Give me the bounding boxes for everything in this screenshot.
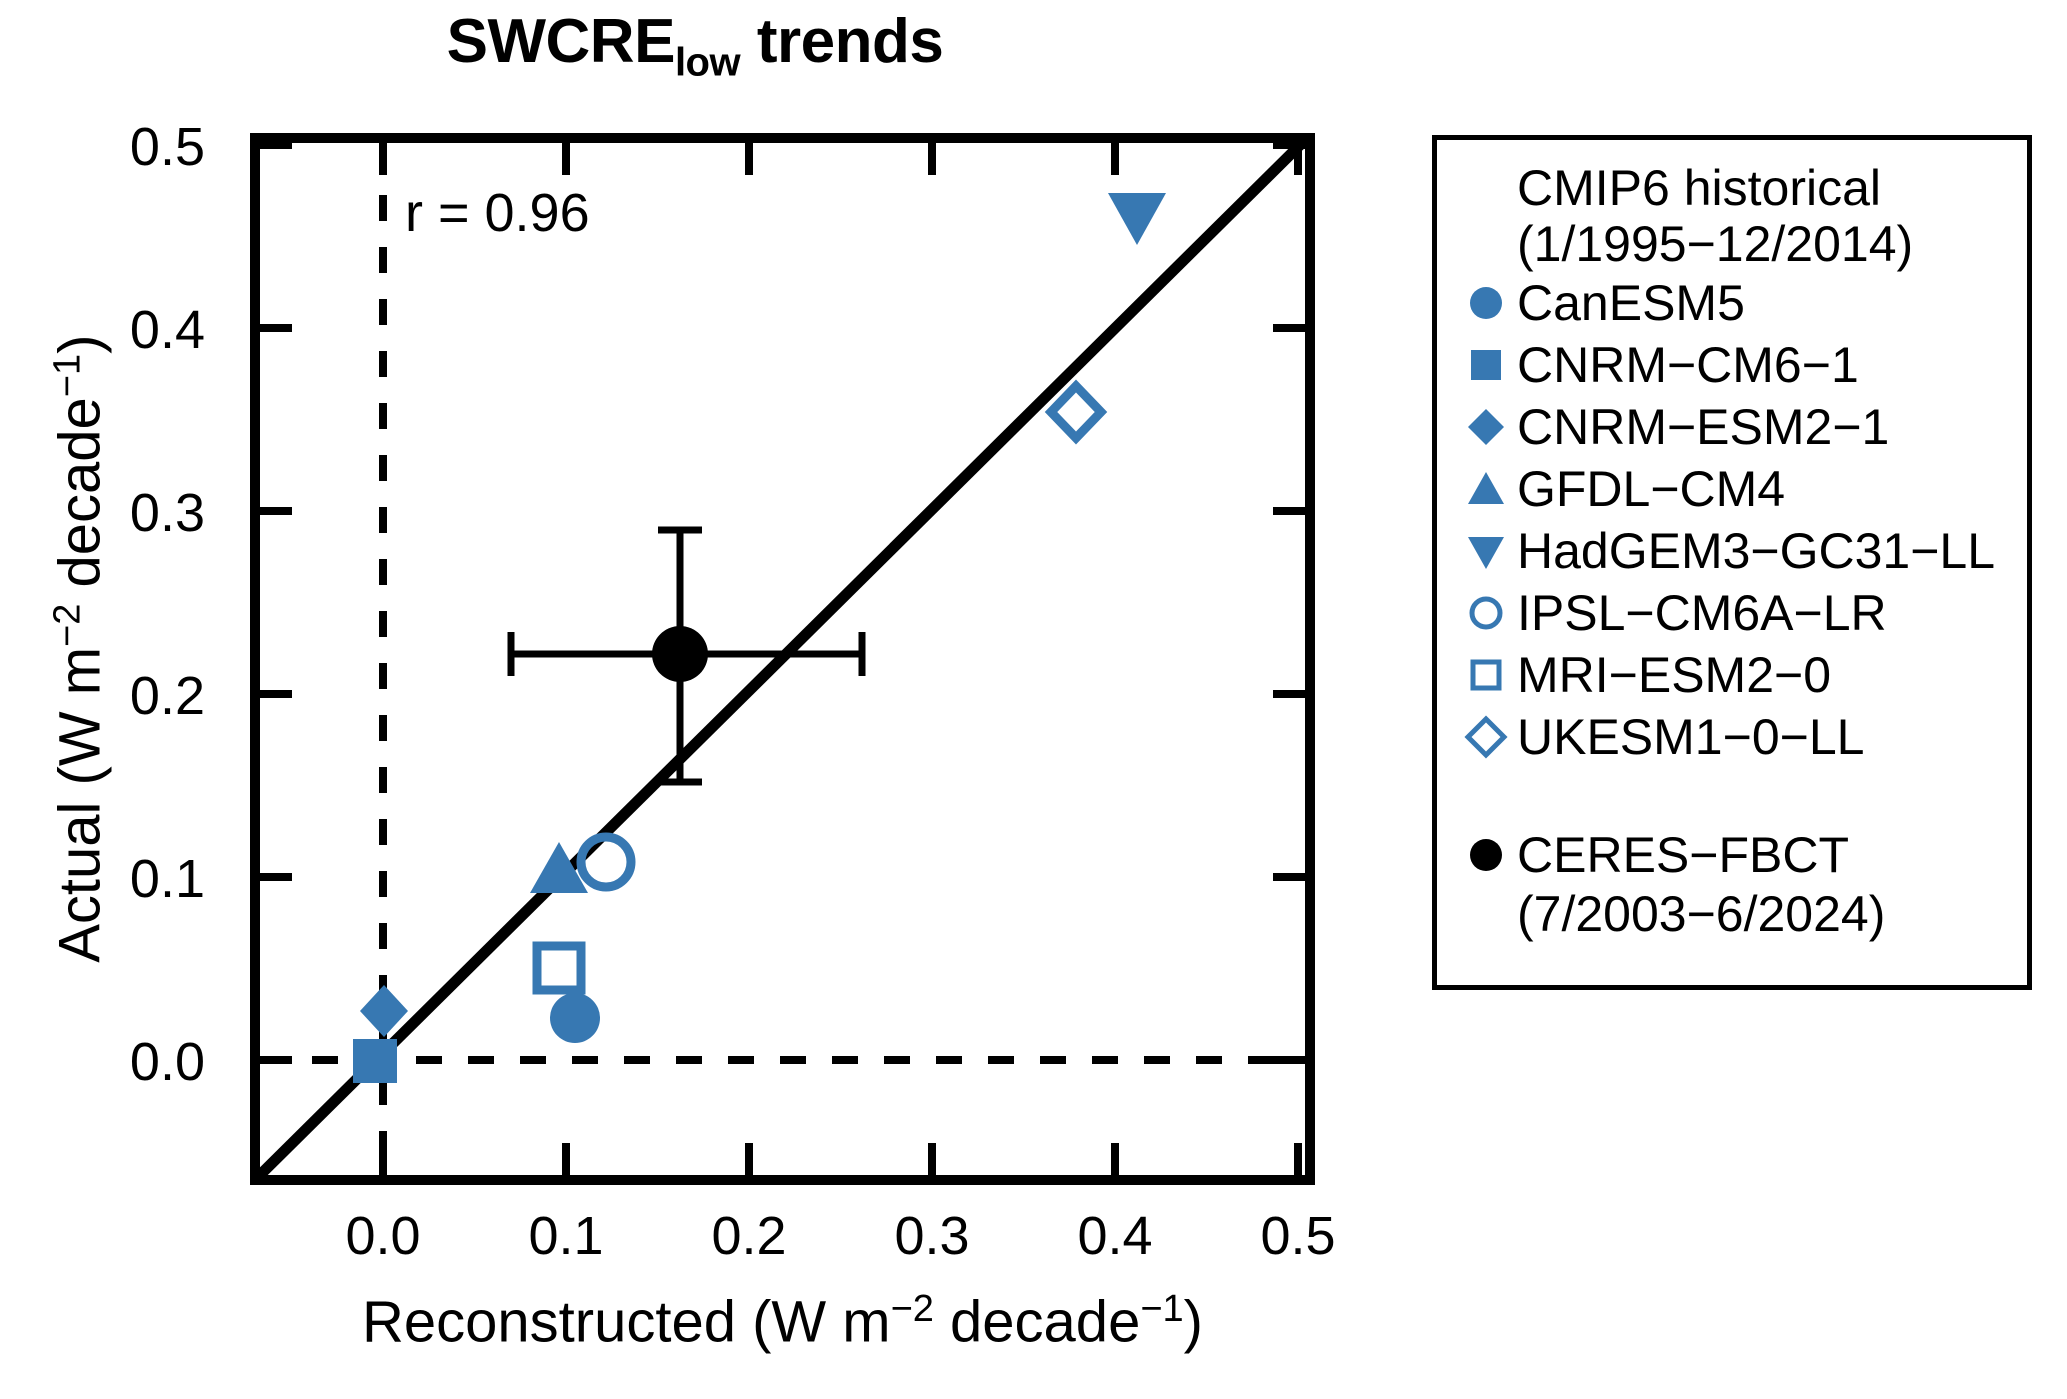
x-tick-label: 0.4 [1030, 1205, 1200, 1267]
page-title: SWCRElow trends [0, 6, 1390, 85]
legend-item-cnrm-esm2-1[interactable]: CNRM−ESM2−1 [1455, 396, 2027, 458]
legend-item-mri-esm2-0[interactable]: MRI−ESM2−0 [1455, 644, 2027, 706]
legend-item-gfdl-cm4[interactable]: GFDL−CM4 [1455, 458, 2027, 520]
y-axis-label-text: Actual (W m [48, 647, 113, 963]
y-axis-label-mid: decade [48, 397, 113, 603]
legend-label: CNRM−ESM2−1 [1517, 402, 1889, 452]
legend-label: MRI−ESM2−0 [1517, 650, 1831, 700]
filled-triangle-down-marker-icon [1455, 526, 1517, 576]
filled-square-marker-icon [1455, 340, 1517, 390]
x-tick-label: 0.0 [298, 1205, 468, 1267]
legend-spacer [1455, 768, 2027, 824]
one-to-one-line [260, 145, 1300, 1175]
x-tick-label: 0.1 [481, 1205, 651, 1267]
title-subscript: low [675, 40, 740, 84]
x-axis-exponent-2: −1 [1140, 1288, 1183, 1330]
filled-triangle-up-marker-icon [1455, 464, 1517, 514]
y-axis-exponent-2: −1 [46, 354, 88, 397]
x-tick-label: 0.3 [847, 1205, 1017, 1267]
filled-black-circle-marker-icon [1455, 830, 1517, 880]
y-axis-label: Actual (W m−2 decade−1) [46, 89, 113, 1209]
x-axis-ticks-top [383, 138, 1298, 175]
x-axis-label-mid: decade [934, 1289, 1140, 1354]
legend-label: HadGEM3−GC31−LL [1517, 526, 1995, 576]
x-tick-label: 0.2 [664, 1205, 834, 1267]
legend-header-line-1: CMIP6 historical [1517, 160, 2027, 216]
title-suffix: trends [740, 7, 943, 76]
plot-area [250, 133, 1315, 1185]
x-axis-exponent-1: −2 [891, 1288, 934, 1330]
legend-label: CERES−FBCT [1517, 830, 1849, 880]
legend-obs-period: (7/2003−6/2024) [1517, 886, 2027, 942]
scatter-plot-svg [250, 133, 1315, 1185]
open-diamond-marker-icon [1455, 712, 1517, 762]
marker-hadgem3-gc31-ll[interactable] [1108, 193, 1166, 245]
legend-item-ceres-fbct[interactable]: CERES−FBCT [1455, 824, 2027, 886]
legend-label: CNRM−CM6−1 [1517, 340, 1859, 390]
y-axis-label-end: ) [48, 335, 113, 354]
open-circle-marker-icon [1455, 588, 1517, 638]
legend-label: CanESM5 [1517, 278, 1745, 328]
marker-ukesm1-0-ll[interactable] [1051, 386, 1101, 438]
figure-root: SWCRElow trends r = 0.96 [0, 0, 2067, 1399]
x-axis-ticks [383, 1143, 1298, 1180]
y-axis-exponent-1: −2 [46, 604, 88, 647]
legend-label: IPSL−CM6A−LR [1517, 588, 1887, 638]
marker-mri-esm2-0[interactable] [537, 946, 581, 990]
legend-label: UKESM1−0−LL [1517, 712, 1864, 762]
y-axis-ticks [255, 145, 292, 1060]
marker-canesm5[interactable] [550, 993, 600, 1043]
legend-label: GFDL−CM4 [1517, 464, 1785, 514]
filled-circle-marker-icon [1455, 278, 1517, 328]
legend-item-cnrm-cm6-1[interactable]: CNRM−CM6−1 [1455, 334, 2027, 396]
legend-item-canesm5[interactable]: CanESM5 [1455, 272, 2027, 334]
legend-item-hadgem3-gc31-ll[interactable]: HadGEM3−GC31−LL [1455, 520, 2027, 582]
marker-cnrm-cm6-1[interactable] [353, 1039, 397, 1083]
x-axis-label-text: Reconstructed (W m [362, 1289, 891, 1354]
x-axis-label-end: ) [1184, 1289, 1203, 1354]
marker-ceres-fbct[interactable] [652, 626, 708, 682]
legend-content: CMIP6 historical (1/1995−12/2014) CanESM… [1437, 140, 2027, 985]
legend-item-ukesm1-0-ll[interactable]: UKESM1−0−LL [1455, 706, 2027, 768]
title-main: SWCRE [447, 7, 675, 76]
open-square-marker-icon [1455, 650, 1517, 700]
x-tick-label: 0.5 [1213, 1205, 1383, 1267]
legend-header-line-2: (1/1995−12/2014) [1517, 216, 2027, 272]
legend: CMIP6 historical (1/1995−12/2014) CanESM… [1432, 135, 2032, 990]
x-axis-label: Reconstructed (W m−2 decade−1) [250, 1288, 1315, 1355]
filled-diamond-marker-icon [1455, 402, 1517, 452]
legend-item-ipsl-cm6a-lr[interactable]: IPSL−CM6A−LR [1455, 582, 2027, 644]
marker-ipsl-cm6a-lr[interactable] [581, 837, 631, 887]
y-axis-ticks-right [1273, 145, 1310, 1060]
